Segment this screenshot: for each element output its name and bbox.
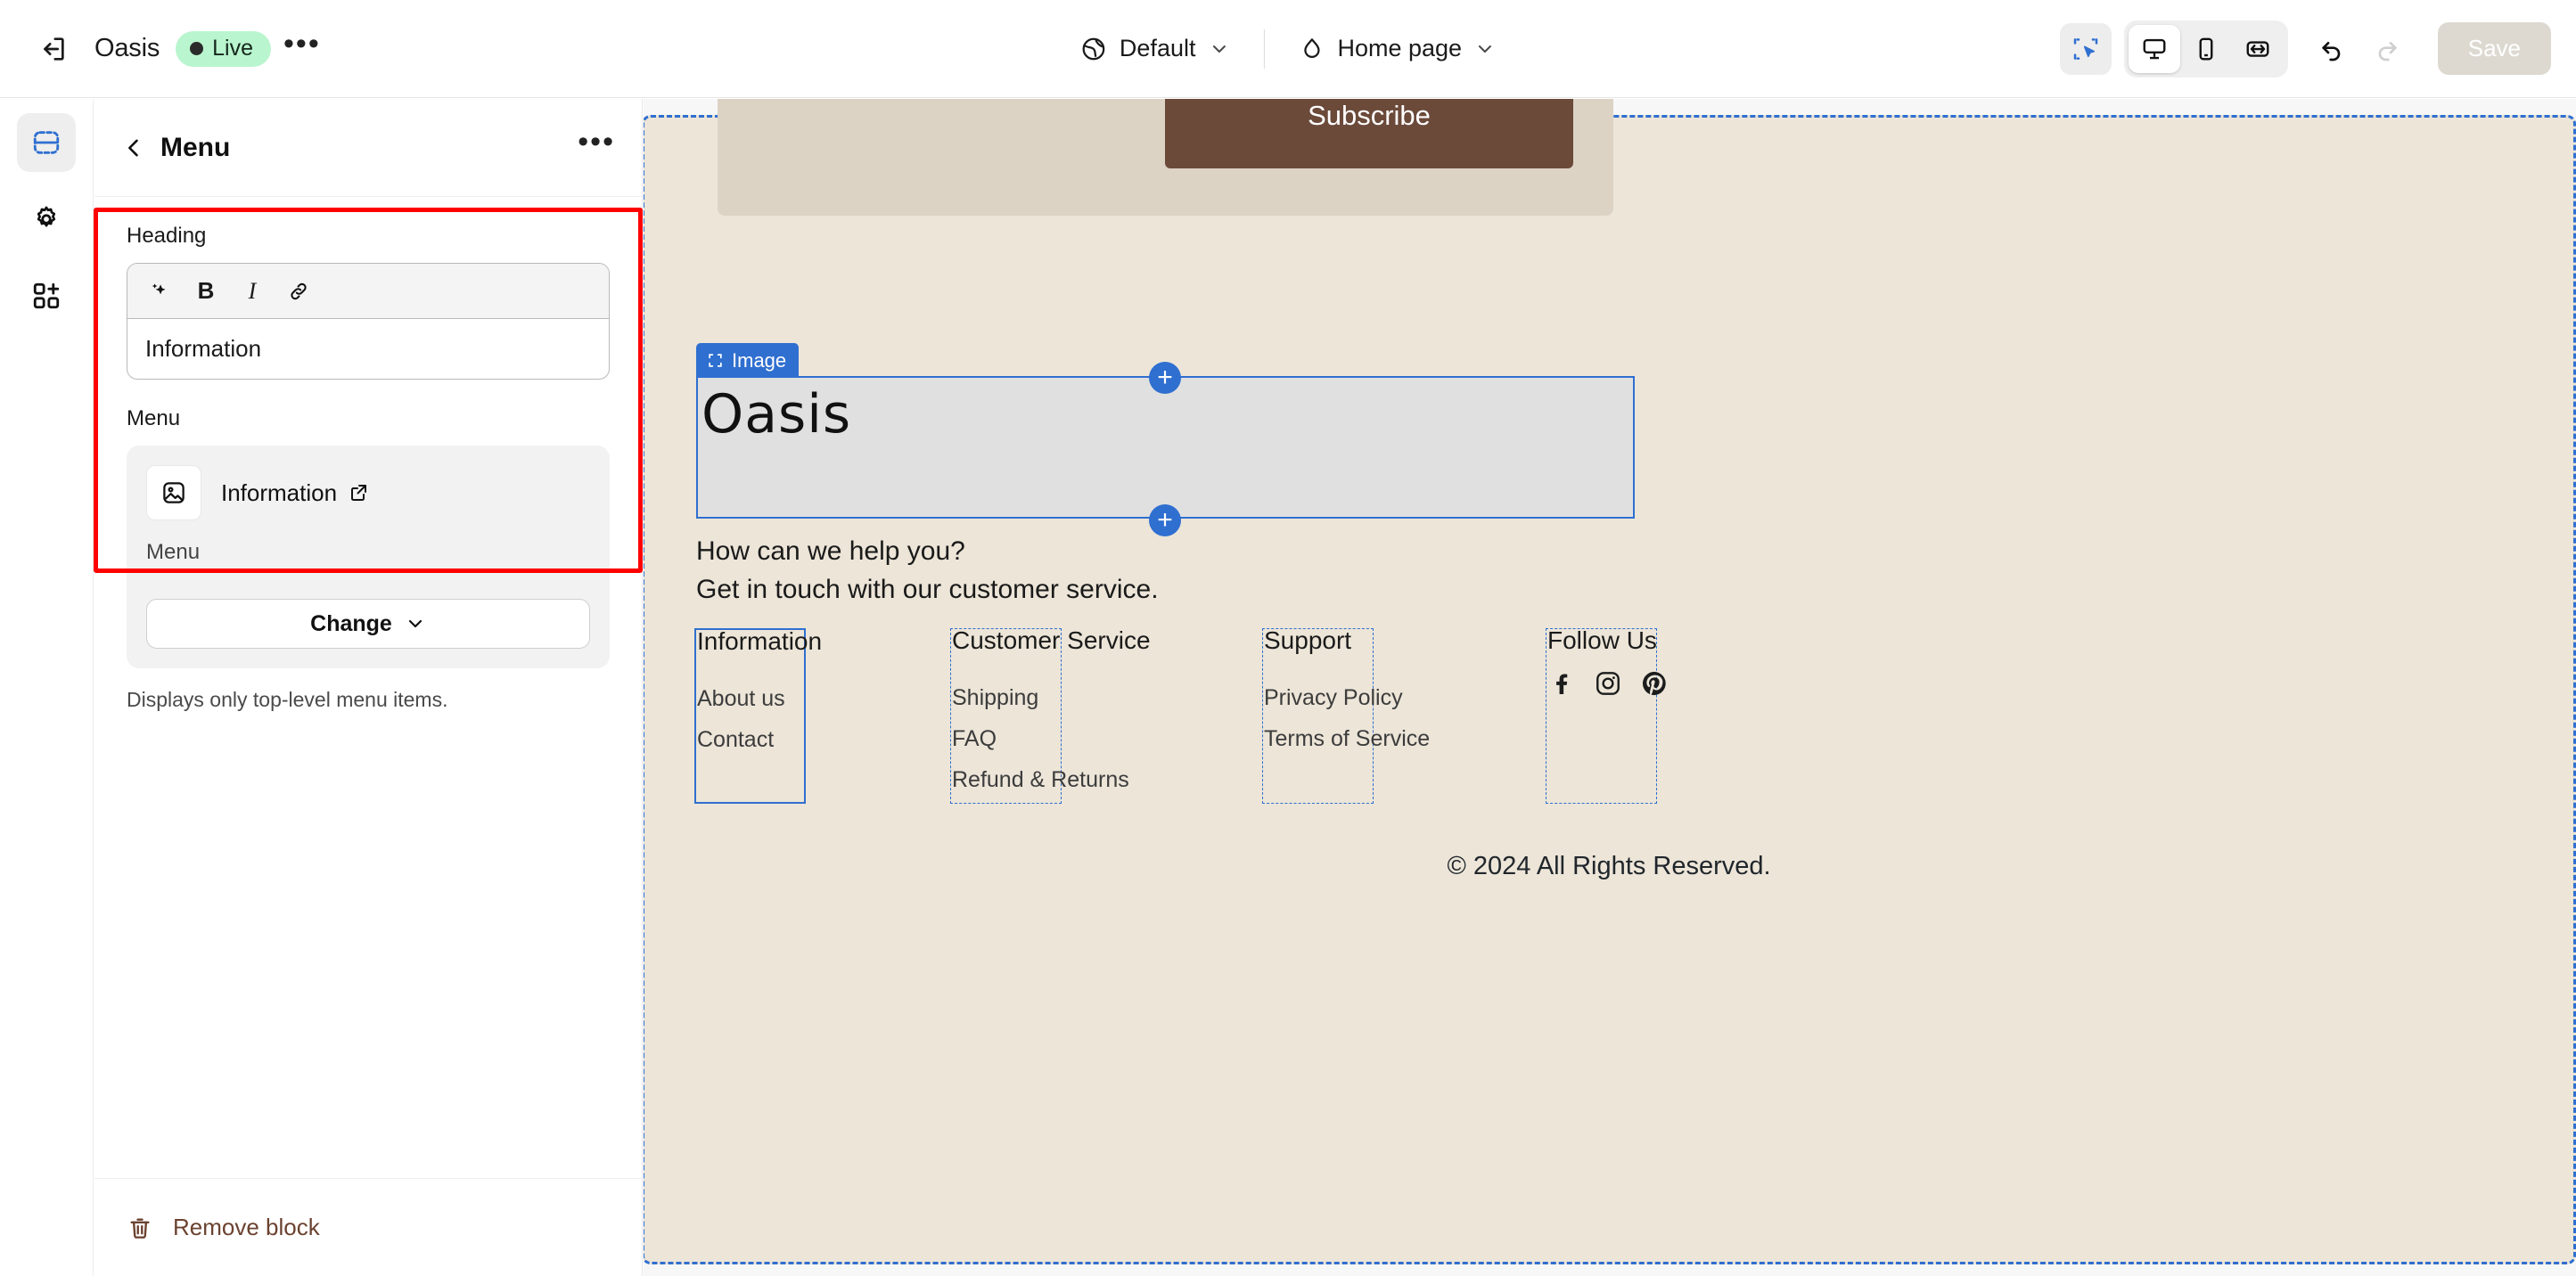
image-block[interactable]: Image Oasis + + bbox=[696, 376, 1635, 519]
pinterest-icon bbox=[1640, 669, 1669, 698]
top-bar: Oasis Live ••• Default bbox=[0, 0, 2576, 98]
menu-section: Menu Informatio bbox=[94, 406, 642, 712]
footer-column-title: Customer Service bbox=[952, 626, 1151, 655]
rail-item-apps[interactable] bbox=[17, 266, 76, 325]
footer-columns: Information About us Contact Customer Se… bbox=[694, 628, 1639, 806]
menu-resource-info: Information Menu bbox=[127, 446, 610, 583]
menu-helper-text: Displays only top-level menu items. bbox=[127, 688, 610, 712]
page-title: Menu bbox=[160, 133, 578, 163]
live-dot-icon bbox=[190, 42, 203, 55]
facebook-icon bbox=[1547, 669, 1576, 698]
footer-link[interactable]: FAQ bbox=[952, 726, 997, 752]
menu-resource-card: Information Menu Change bbox=[127, 446, 610, 668]
page-selector-label: Home page bbox=[1337, 35, 1462, 62]
shop-more-button[interactable]: ••• bbox=[283, 38, 321, 60]
help-text-block: How can we help you? Get in touch with o… bbox=[696, 533, 1159, 609]
heading-input[interactable]: Information bbox=[127, 319, 609, 379]
oasis-logo: Oasis bbox=[701, 383, 851, 446]
remove-block-button[interactable]: Remove block bbox=[127, 1214, 320, 1241]
shop-name: Oasis bbox=[94, 34, 160, 63]
help-line-1: How can we help you? bbox=[696, 533, 1159, 571]
exit-icon[interactable] bbox=[27, 23, 78, 75]
block-settings-panel: Menu ••• Heading B bbox=[94, 99, 643, 1276]
theme-selector[interactable]: Default bbox=[1066, 26, 1244, 71]
social-links bbox=[1547, 669, 1669, 698]
footer-column-title: Support bbox=[1264, 626, 1351, 655]
menu-resource-actions: Change bbox=[127, 583, 610, 668]
footer-link[interactable]: Privacy Policy bbox=[1264, 685, 1403, 711]
copyright-text: © 2024 All Rights Reserved. bbox=[644, 852, 2573, 881]
menu-resource-label: Information bbox=[221, 479, 337, 507]
footer-column-title: Information bbox=[697, 627, 822, 656]
topbar-right-group: Save bbox=[2060, 20, 2551, 78]
home-icon bbox=[1298, 36, 1325, 62]
instagram-icon bbox=[1594, 669, 1622, 698]
page-selector[interactable]: Home page bbox=[1284, 26, 1510, 71]
bold-label: B bbox=[198, 277, 215, 305]
change-button-label: Change bbox=[310, 611, 392, 637]
panel-footer: Remove block bbox=[94, 1178, 642, 1276]
newsletter-text: sale and offers bbox=[759, 99, 933, 105]
image-placeholder-icon bbox=[146, 465, 201, 520]
panel-more-button[interactable]: ••• bbox=[578, 136, 615, 159]
heading-section: Heading B I bbox=[94, 224, 642, 380]
heading-field-label: Heading bbox=[127, 224, 610, 249]
footer-column-information[interactable]: Information About us Contact bbox=[694, 628, 806, 804]
topbar-left-group: Oasis Live ••• bbox=[0, 23, 321, 75]
save-button[interactable]: Save bbox=[2438, 22, 2551, 75]
footer-column-support[interactable]: Support Privacy Policy Terms of Service bbox=[1262, 628, 1374, 804]
trash-icon bbox=[127, 1215, 153, 1241]
help-line-2: Get in touch with our customer service. bbox=[696, 571, 1159, 609]
footer-link[interactable]: Contact bbox=[697, 727, 774, 753]
link-icon[interactable] bbox=[277, 272, 320, 311]
topbar-divider bbox=[1263, 29, 1264, 69]
desktop-icon[interactable] bbox=[2129, 25, 2180, 73]
add-block-below-button[interactable]: + bbox=[1149, 504, 1181, 536]
full-width-icon[interactable] bbox=[2232, 25, 2284, 73]
footer-link[interactable]: Terms of Service bbox=[1264, 726, 1430, 752]
sections-icon bbox=[31, 127, 62, 158]
chevron-down-icon bbox=[405, 613, 426, 634]
chevron-left-icon[interactable] bbox=[121, 135, 160, 160]
globe-icon bbox=[1080, 36, 1107, 62]
status-badge: Live bbox=[176, 31, 271, 67]
external-link-icon bbox=[348, 482, 369, 503]
menu-resource-type: Menu bbox=[146, 540, 590, 565]
menu-field-label: Menu bbox=[127, 406, 610, 431]
remove-block-label: Remove block bbox=[173, 1214, 320, 1241]
italic-button[interactable]: I bbox=[231, 272, 274, 311]
apps-add-icon bbox=[31, 281, 62, 311]
menu-resource-title: Information bbox=[221, 479, 369, 507]
rail-item-settings[interactable] bbox=[17, 190, 76, 249]
footer-column-title: Follow Us bbox=[1547, 626, 1657, 655]
settings-gear-icon bbox=[31, 204, 62, 234]
footer-link[interactable]: About us bbox=[697, 686, 785, 712]
bold-button[interactable]: B bbox=[185, 272, 227, 311]
chevron-down-icon bbox=[1474, 38, 1496, 60]
richtext-toolbar: B I bbox=[127, 264, 609, 319]
image-block-tag[interactable]: Image bbox=[696, 343, 799, 378]
rail-item-sections[interactable] bbox=[17, 113, 76, 172]
preview-canvas[interactable]: sale and offers Subscribe Image Oasis + … bbox=[644, 99, 2576, 1276]
italic-label: I bbox=[249, 278, 257, 305]
mobile-icon[interactable] bbox=[2180, 25, 2232, 73]
redo-icon bbox=[2359, 23, 2415, 75]
footer-link[interactable]: Shipping bbox=[952, 685, 1038, 711]
device-preview-group bbox=[2124, 20, 2288, 78]
heading-richtext-field[interactable]: B I Information bbox=[127, 263, 610, 380]
add-block-above-button[interactable]: + bbox=[1149, 362, 1181, 394]
footer-column-customer-service[interactable]: Customer Service Shipping FAQ Refund & R… bbox=[950, 628, 1062, 804]
page-frame: sale and offers Subscribe Image Oasis + … bbox=[644, 115, 2576, 1264]
subscribe-button[interactable]: Subscribe bbox=[1165, 99, 1573, 168]
theme-selector-label: Default bbox=[1120, 35, 1196, 62]
left-icon-rail bbox=[0, 99, 94, 1276]
change-button[interactable]: Change bbox=[146, 599, 590, 649]
chevron-down-icon bbox=[1208, 38, 1229, 60]
topbar-center-group: Default Home page bbox=[1066, 26, 1510, 71]
panel-body: Heading B I bbox=[94, 197, 642, 1178]
select-cursor-icon[interactable] bbox=[2060, 23, 2112, 75]
theme-editor-window: Oasis Live ••• Default bbox=[0, 0, 2576, 1276]
menu-resource-row[interactable]: Information bbox=[146, 465, 590, 520]
footer-column-follow-us[interactable]: Follow Us bbox=[1546, 628, 1657, 804]
image-block-tag-label: Image bbox=[732, 349, 786, 372]
sparkle-icon[interactable] bbox=[138, 272, 181, 311]
undo-icon[interactable] bbox=[2304, 23, 2359, 75]
status-badge-label: Live bbox=[212, 37, 253, 60]
frame-icon bbox=[707, 352, 724, 369]
panel-header: Menu ••• bbox=[94, 99, 642, 197]
footer-link[interactable]: Refund & Returns bbox=[952, 767, 1129, 793]
